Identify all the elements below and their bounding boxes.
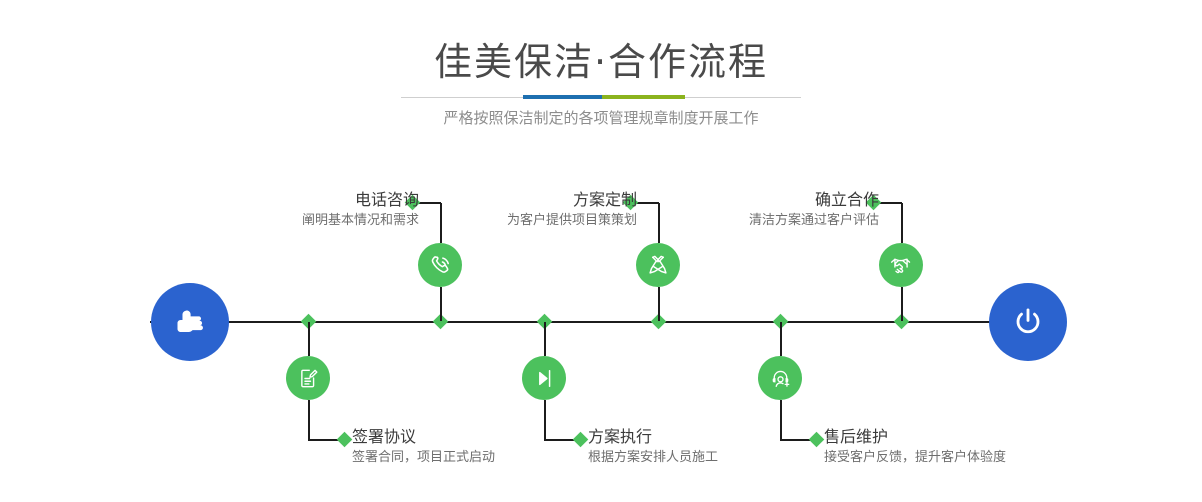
label-marker-bottom-3 — [809, 432, 825, 448]
connector-vertical-bottom-2-upper — [544, 322, 546, 356]
step-title: 电话咨询 — [302, 189, 419, 211]
step-title: 确立合作 — [749, 189, 879, 211]
step-label-bottom-1: 签署协议 签署合同，项目正式启动 — [352, 426, 495, 468]
title-divider — [401, 95, 801, 99]
handshake-icon — [888, 252, 914, 278]
pointing-hand-icon — [169, 301, 211, 343]
step-desc: 清洁方案通过客户评估 — [749, 211, 879, 231]
step-label-top-1: 电话咨询 阐明基本情况和需求 — [302, 189, 419, 231]
step-title: 签署协议 — [352, 426, 495, 448]
connector-vertical-top-1-upper — [440, 203, 442, 243]
connector-vertical-bottom-2-lower — [544, 400, 546, 440]
connector-vertical-bottom-1-upper — [308, 322, 310, 356]
step-desc: 签署合同，项目正式启动 — [352, 448, 495, 468]
start-endpoint — [151, 283, 229, 361]
step-icon-bottom-2 — [522, 356, 566, 400]
step-icon-top-3 — [879, 243, 923, 287]
step-title: 售后维护 — [824, 426, 1006, 448]
step-desc: 接受客户反馈，提升客户体验度 — [824, 448, 1006, 468]
process-flow-infographic: 佳美保洁·合作流程 严格按照保洁制定的各项管理规章制度开展工作 — [0, 0, 1202, 502]
connector-vertical-bottom-1-lower — [308, 400, 310, 440]
step-label-top-2: 方案定制 为客户提供项目策策划 — [507, 189, 637, 231]
phone-call-icon — [427, 252, 453, 278]
connector-vertical-top-3-lower — [901, 287, 903, 321]
connector-vertical-top-2-lower — [658, 287, 660, 321]
power-button-icon — [1008, 302, 1048, 342]
step-label-bottom-3: 售后维护 接受客户反馈，提升客户体验度 — [824, 426, 1006, 468]
connector-vertical-bottom-3-lower — [780, 400, 782, 440]
divider-segment-green — [602, 95, 685, 99]
step-desc: 根据方案安排人员施工 — [588, 448, 718, 468]
step-desc: 阐明基本情况和需求 — [302, 211, 419, 231]
page-subtitle: 严格按照保洁制定的各项管理规章制度开展工作 — [0, 106, 1202, 130]
label-marker-bottom-2 — [573, 432, 589, 448]
step-title: 方案执行 — [588, 426, 718, 448]
step-icon-bottom-3 — [758, 356, 802, 400]
connector-vertical-top-3-upper — [901, 203, 903, 243]
end-endpoint — [989, 283, 1067, 361]
label-marker-bottom-1 — [337, 432, 353, 448]
divider-segment-blue — [523, 95, 602, 99]
pencil-design-icon — [645, 252, 671, 278]
step-icon-bottom-1 — [286, 356, 330, 400]
connector-vertical-top-1-lower — [440, 287, 442, 321]
document-edit-icon — [296, 366, 321, 391]
step-icon-top-2 — [636, 243, 680, 287]
step-label-top-3: 确立合作 清洁方案通过客户评估 — [749, 189, 879, 231]
customer-support-icon — [768, 366, 793, 391]
connector-vertical-bottom-3-upper — [780, 322, 782, 356]
timeline-axis — [150, 321, 1052, 323]
page-title: 佳美保洁·合作流程 — [0, 38, 1202, 86]
step-label-bottom-2: 方案执行 根据方案安排人员施工 — [588, 426, 718, 468]
play-execute-icon — [532, 366, 557, 391]
step-icon-top-1 — [418, 243, 462, 287]
step-desc: 为客户提供项目策策划 — [507, 211, 637, 231]
step-title: 方案定制 — [507, 189, 637, 211]
connector-vertical-top-2-upper — [658, 203, 660, 243]
